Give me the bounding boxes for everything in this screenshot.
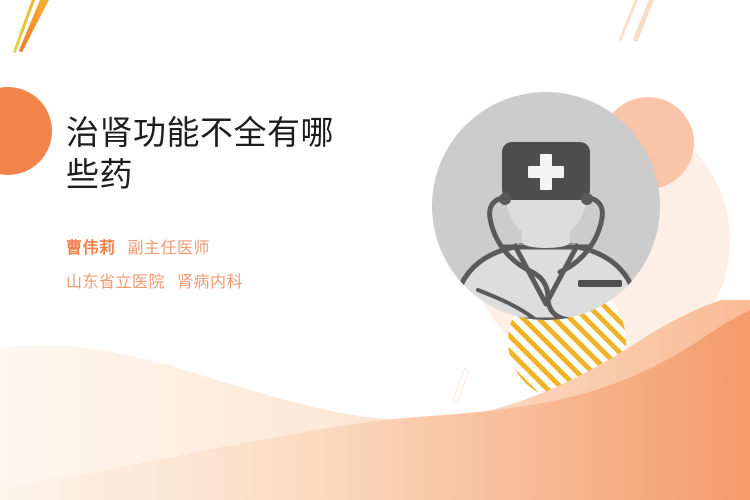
orange-circle-decoration — [0, 87, 52, 175]
page-title: 治肾功能不全有哪些药 — [66, 112, 416, 196]
doctor-title: 副主任医师 — [128, 234, 211, 258]
doctor-row: 曹伟莉 副主任医师 — [66, 234, 416, 258]
title-line-1: 治肾功能不全有哪 — [66, 114, 334, 151]
avatar-circle-background — [432, 92, 660, 320]
hospital-row: 山东省立医院 肾病内科 — [66, 268, 416, 292]
peach-diagonal-stroke-icon-b — [633, 0, 657, 42]
doctor-illustration-svg — [432, 92, 660, 320]
doctor-avatar — [432, 92, 660, 320]
byline-block: 曹伟莉 副主任医师 山东省立医院 肾病内科 — [66, 234, 416, 292]
hospital-name: 山东省立医院 — [66, 268, 165, 292]
title-line-2: 些药 — [66, 156, 133, 193]
slide-canvas: 治肾功能不全有哪些药 曹伟莉 副主任医师 山东省立医院 肾病内科 — [0, 0, 750, 500]
text-content-block: 治肾功能不全有哪些药 曹伟莉 副主任医师 山东省立医院 肾病内科 — [66, 112, 416, 302]
doctor-name: 曹伟莉 — [66, 234, 116, 258]
department-name: 肾病内科 — [177, 268, 243, 292]
badge-dash-icon — [578, 280, 622, 287]
bottom-wave-decoration — [0, 300, 750, 500]
